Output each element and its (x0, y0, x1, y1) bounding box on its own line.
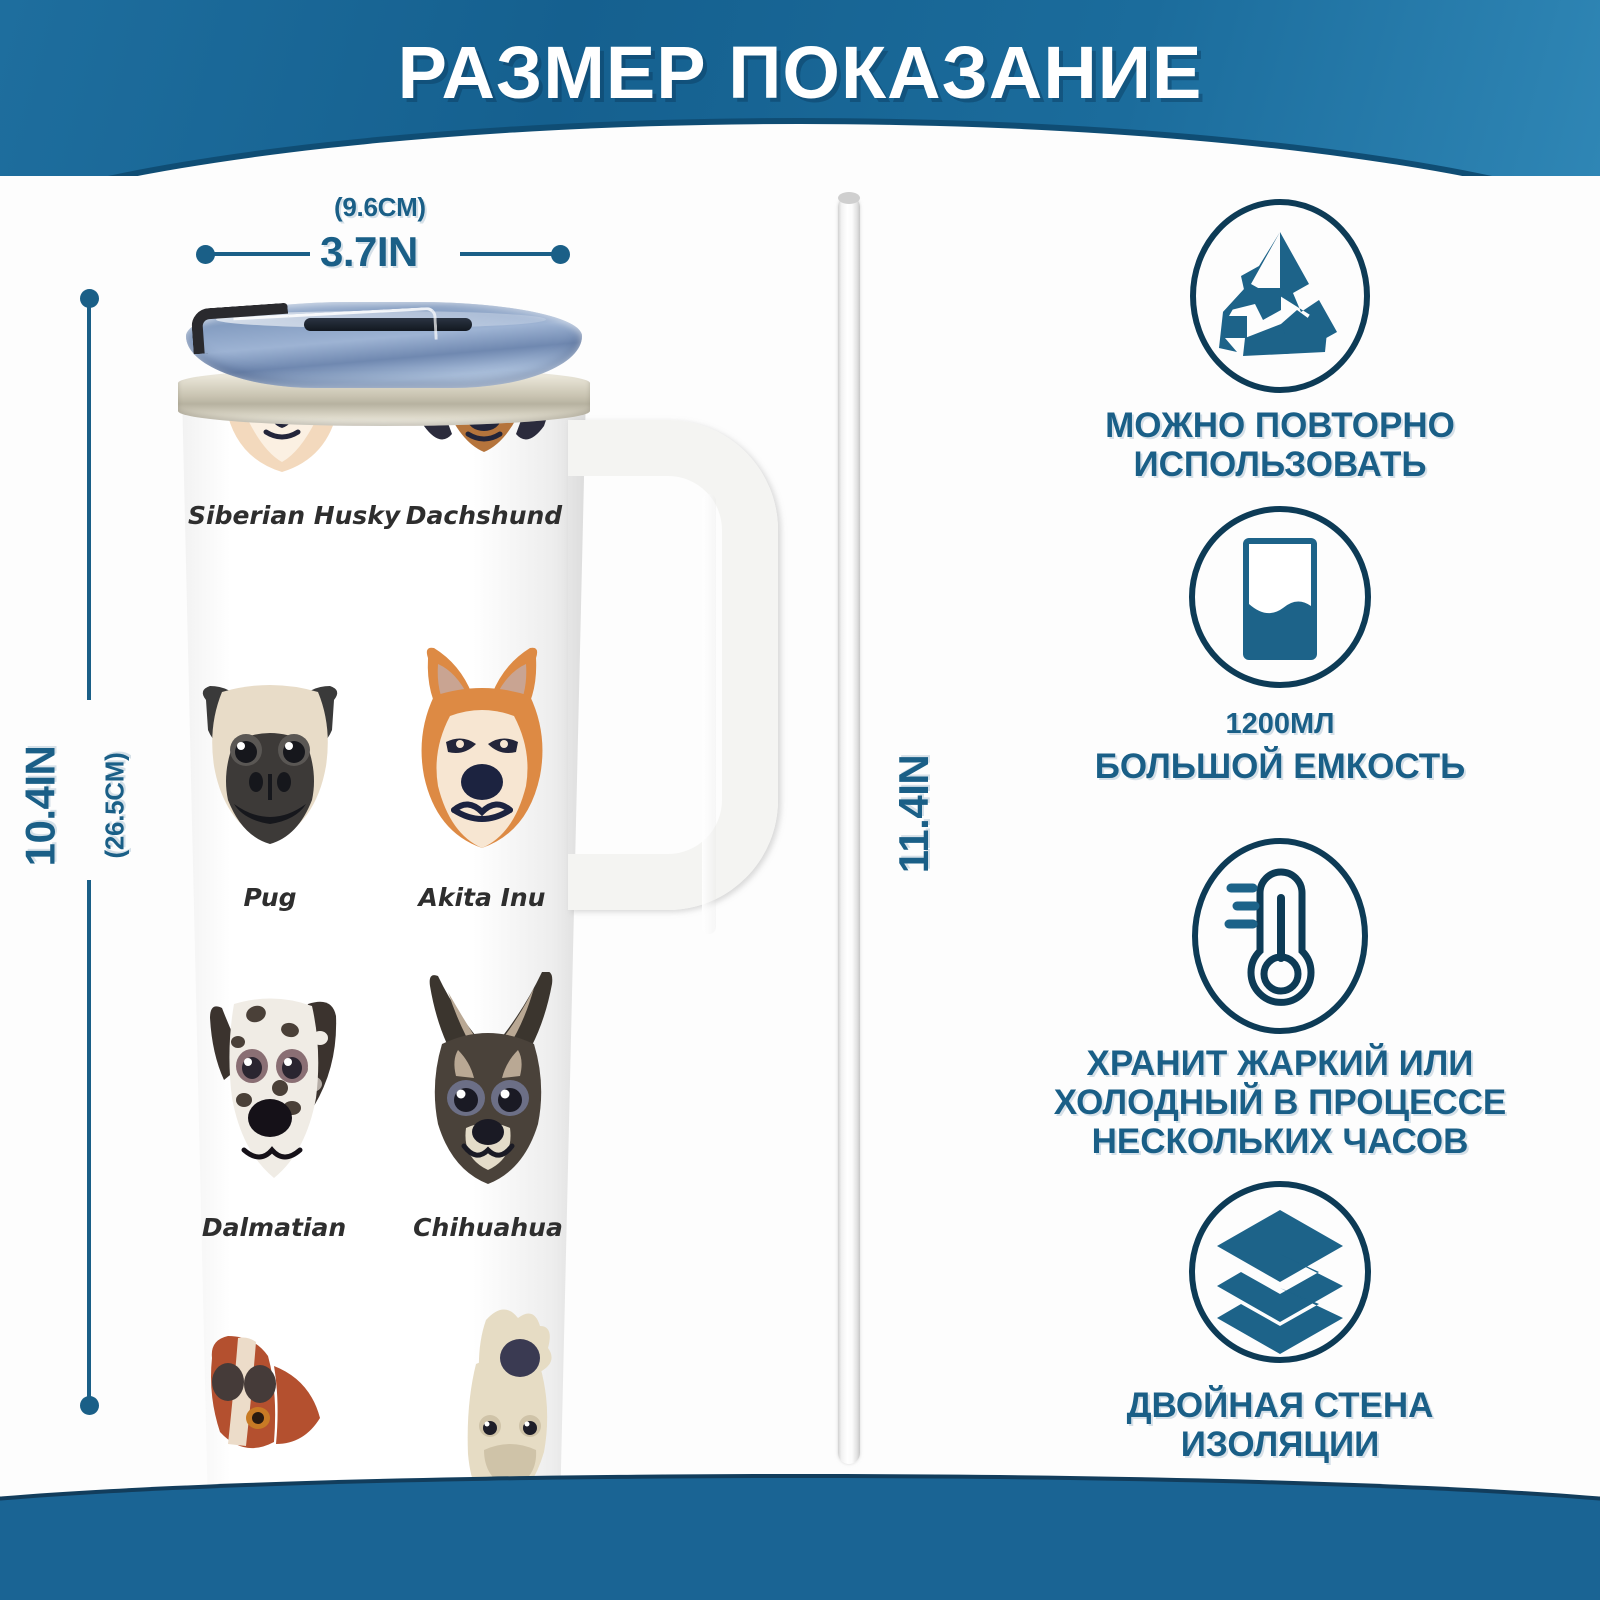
feature-thermal: ХРАНИТ ЖАРКИЙ ИЛИ ХОЛОДНЫЙ В ПРОЦЕССЕ НЕ… (960, 836, 1600, 1162)
dog-label-chihuahua: Chihuahua (394, 1213, 582, 1242)
dog-face-dalmatian-icon (182, 988, 368, 1198)
straw-dim-label: 11.4IN (890, 755, 938, 873)
cup-body: Siberian Husky Dachshund (182, 392, 586, 1522)
feature-thermal-line-3: НЕСКОЛЬКИХ ЧАСОВ (960, 1122, 1600, 1161)
infographic-page: РАЗМЕР ПОКАЗАНИЕ (9.6CM) 3.7IN 10.4IN (2… (0, 0, 1600, 1600)
feature-reusable: МОЖНО ПОВТОРНО ИСПОЛЬЗОВАТЬ (960, 196, 1600, 484)
left-dim-inch-label: 10.4IN (16, 746, 64, 867)
water-glass-icon (1185, 500, 1375, 700)
dog-cell-chihuahua: Chihuahua (394, 972, 582, 1242)
feature-double-wall: ДВОЙНАЯ СТЕНА ИЗОЛЯЦИИ (960, 1176, 1600, 1464)
dog-face-pug-icon (182, 668, 364, 868)
feature-double-wall-line-2: ИЗОЛЯЦИИ (960, 1425, 1600, 1464)
left-dim-cm-label: (26.5CM) (99, 753, 130, 859)
top-dim-inch-label: 3.7IN (320, 228, 418, 276)
footer-banner (0, 1470, 1600, 1600)
dog-label-pug: Pug (182, 883, 364, 912)
drinking-straw (838, 196, 860, 1464)
feature-capacity: 1200МЛ БОЛЬШОЙ ЕМКОСТЬ (960, 500, 1600, 786)
feature-double-wall-icon-wrap (960, 1176, 1600, 1376)
dog-label-dalmatian: Dalmatian (182, 1213, 368, 1242)
left-dim-dot-bottom (80, 1396, 99, 1415)
feature-capacity-line-1: БОЛЬШОЙ ЕМКОСТЬ (960, 747, 1600, 786)
feature-reusable-line-1: МОЖНО ПОВТОРНО (960, 406, 1600, 445)
dog-face-akita-inu-icon (388, 642, 576, 868)
dog-face-chihuahua-icon (394, 972, 582, 1198)
footer-fill (0, 1478, 1600, 1600)
thermometer-icon (1185, 836, 1375, 1036)
dog-label-siberian-husky: Siberian Husky (188, 501, 376, 530)
header-curve (0, 124, 1600, 176)
cup-handle (568, 420, 778, 910)
dog-label-akita-inu: Akita Inu (388, 883, 576, 912)
straw-top-cap (838, 192, 860, 204)
feature-reusable-line-2: ИСПОЛЬЗОВАТЬ (960, 445, 1600, 484)
header-banner: РАЗМЕР ПОКАЗАНИЕ (0, 0, 1600, 176)
feature-capacity-volume: 1200МЛ (960, 708, 1600, 741)
dog-cell-dalmatian: Dalmatian (182, 988, 368, 1242)
cup-lid (186, 302, 582, 388)
feature-thermal-icon-wrap (960, 836, 1600, 1036)
layers-icon (1185, 1176, 1375, 1376)
dog-cell-pug: Pug (182, 668, 364, 912)
feature-reusable-icon-wrap (960, 196, 1600, 396)
feature-thermal-line-1: ХРАНИТ ЖАРКИЙ ИЛИ (960, 1044, 1600, 1083)
dog-print-area: Siberian Husky Dachshund (182, 392, 586, 1522)
page-title: РАЗМЕР ПОКАЗАНИЕ (0, 30, 1600, 115)
recycle-icon (1185, 196, 1375, 396)
feature-thermal-line-2: ХОЛОДНЫЙ В ПРОЦЕССЕ (960, 1083, 1600, 1122)
dog-cell-akita-inu: Akita Inu (388, 642, 576, 912)
feature-double-wall-line-1: ДВОЙНАЯ СТЕНА (960, 1386, 1600, 1425)
feature-capacity-icon-wrap (960, 500, 1600, 700)
dog-label-dachshund: Dachshund (390, 501, 578, 530)
top-dim-cm-label: (9.6CM) (334, 192, 426, 223)
lid-clip-handle (191, 303, 291, 355)
